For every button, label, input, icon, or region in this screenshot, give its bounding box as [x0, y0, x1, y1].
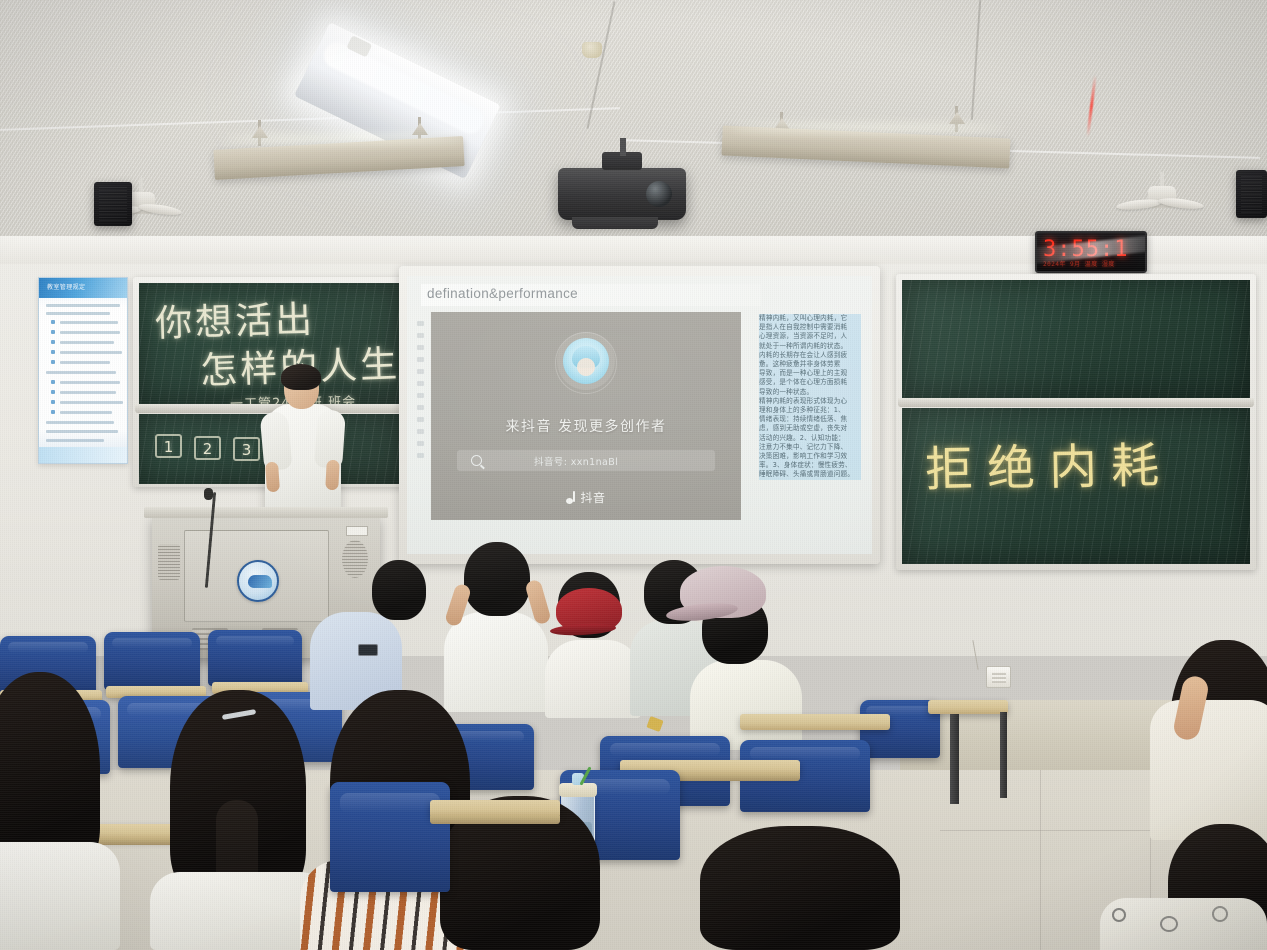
document-left-rail: [414, 321, 427, 506]
chalk-number-box: 1: [155, 434, 182, 458]
podium-label: [346, 526, 368, 536]
wall-speaker-icon: [94, 182, 132, 226]
seat: [104, 632, 200, 690]
ceiling: [0, 0, 1267, 250]
light-glow: [732, 124, 1004, 132]
document-text-line: 是指人在自我控制中需要消耗: [759, 323, 861, 332]
student-bottom-right-body: [1100, 898, 1267, 950]
student-foreground-center-hair: [700, 826, 900, 950]
document-text-line: 理和身体上的多种征兆：1、: [759, 406, 861, 415]
document-text-line: 心理资源，当资源不足时，人: [759, 332, 861, 341]
digital-clock: 3:55:1 2024年 9月 温度 湿度: [1035, 231, 1147, 273]
desk: [928, 700, 1008, 714]
student-right-body: [1150, 700, 1267, 840]
student-red-cap-body: [545, 640, 641, 718]
douyin-search-bar[interactable]: 抖音号: xxn1naBl: [457, 450, 715, 471]
blackboard-right-upper: [902, 280, 1250, 398]
desk: [740, 714, 890, 730]
bottle-cap: [559, 783, 597, 797]
student-head: [464, 542, 530, 616]
chalk-heading-right: 拒绝内耗: [924, 426, 1173, 500]
podium-speaker-right: [342, 540, 368, 578]
document-text-line: 活动的兴趣。2、认知功能：: [759, 434, 861, 443]
shirt-print: [1160, 916, 1178, 932]
smoke-detector-icon: [582, 42, 602, 58]
student-white-shirt: [444, 612, 548, 712]
power-outlet-icon: [986, 666, 1011, 688]
document-text-line: 导致，而是一种心理上的主观: [759, 369, 861, 378]
seat: [330, 782, 450, 892]
douyin-brand: 抖音: [431, 489, 741, 506]
douyin-note-icon: [566, 491, 577, 504]
document-text-line: 精神内耗的表现形式体现为心: [759, 397, 861, 406]
document-text-line: 睡眠障碍、头痛或胃肠道问题。: [759, 470, 861, 479]
document-text-column: 精神内耗，又叫心理内耗，它是指人在自我控制中需要消耗心理资源，当资源不足时，人就…: [759, 314, 861, 504]
douyin-id-text: 抖音号: xxn1naBl: [534, 454, 618, 468]
poster-footer-band: [39, 447, 127, 463]
search-icon: [471, 455, 482, 466]
document-text-line: 就处于一种所谓内耗的状态。: [759, 342, 861, 351]
shirt-star-motif: [646, 716, 663, 732]
chalk-number-box: 2: [194, 436, 221, 460]
douyin-video-embed[interactable]: 来抖音 发现更多创作者 抖音号: xxn1naBl 抖音: [431, 312, 741, 520]
document-text-line: 导致的一种状态。: [759, 388, 861, 397]
chalk-number-box: 3: [233, 437, 260, 461]
uniform-badge: [358, 644, 378, 656]
school-emblem: [237, 560, 279, 602]
poster-header-text: 教室管理规定: [47, 282, 85, 291]
student-foreground-left-body: [0, 842, 120, 950]
avatar: [563, 338, 609, 384]
document-text-line: 内耗的长期存在会让人感到疲: [759, 351, 861, 360]
projector-lens: [646, 181, 672, 207]
seat: [208, 630, 302, 686]
ceiling-projector: [558, 168, 686, 220]
document-title: defination&performance: [427, 286, 578, 301]
document-text-line: 惫。这种疲惫并非身体劳累: [759, 360, 861, 369]
seat-stand: [1000, 712, 1007, 798]
douyin-slogan: 来抖音 发现更多创作者: [431, 416, 741, 436]
wall-notice-poster: 教室管理规定: [38, 277, 128, 464]
podium-top: [144, 507, 388, 518]
presenter-sleeve-left: [260, 411, 293, 471]
document-text-line: 感受，是个体在心理方面损耗: [759, 378, 861, 387]
document-text-line: 注意力不集中、记忆力下降、: [759, 443, 861, 452]
douyin-brand-text: 抖音: [580, 491, 605, 505]
document-text-line: 决策困难，影响工作和学习效: [759, 452, 861, 461]
document-text-line: 率。3、身体症状：慢性疲劳、: [759, 461, 861, 470]
presenter-hair: [281, 364, 321, 390]
document-text-line: 精神内耗，又叫心理内耗，它: [759, 314, 861, 323]
student-head: [372, 560, 426, 620]
projector-arm: [620, 138, 626, 156]
presenter-arm-right: [325, 460, 340, 491]
presenter-arm-left: [265, 462, 280, 493]
classroom-photo: 3:55:1 2024年 9月 温度 湿度 教室管理规定 你想活出 怎样的人生 …: [0, 0, 1267, 950]
document-text-line: 情绪表现：持续情绪低落、焦: [759, 415, 861, 424]
shirt-print: [1212, 906, 1228, 922]
projection-screen[interactable]: defination&performance 来抖音 发现更多创作者 抖音号: …: [407, 276, 872, 554]
seat-stand: [950, 714, 959, 804]
shirt-print: [1112, 908, 1126, 922]
microphone-head: [204, 488, 213, 500]
podium-speaker-left: [158, 544, 180, 580]
wall-speaker-icon: [1236, 170, 1267, 218]
light-glow: [224, 135, 464, 143]
document-text-line: 虑，感到无助或空虚，丧失对: [759, 424, 861, 433]
blackboard-right-tray: [898, 398, 1254, 407]
